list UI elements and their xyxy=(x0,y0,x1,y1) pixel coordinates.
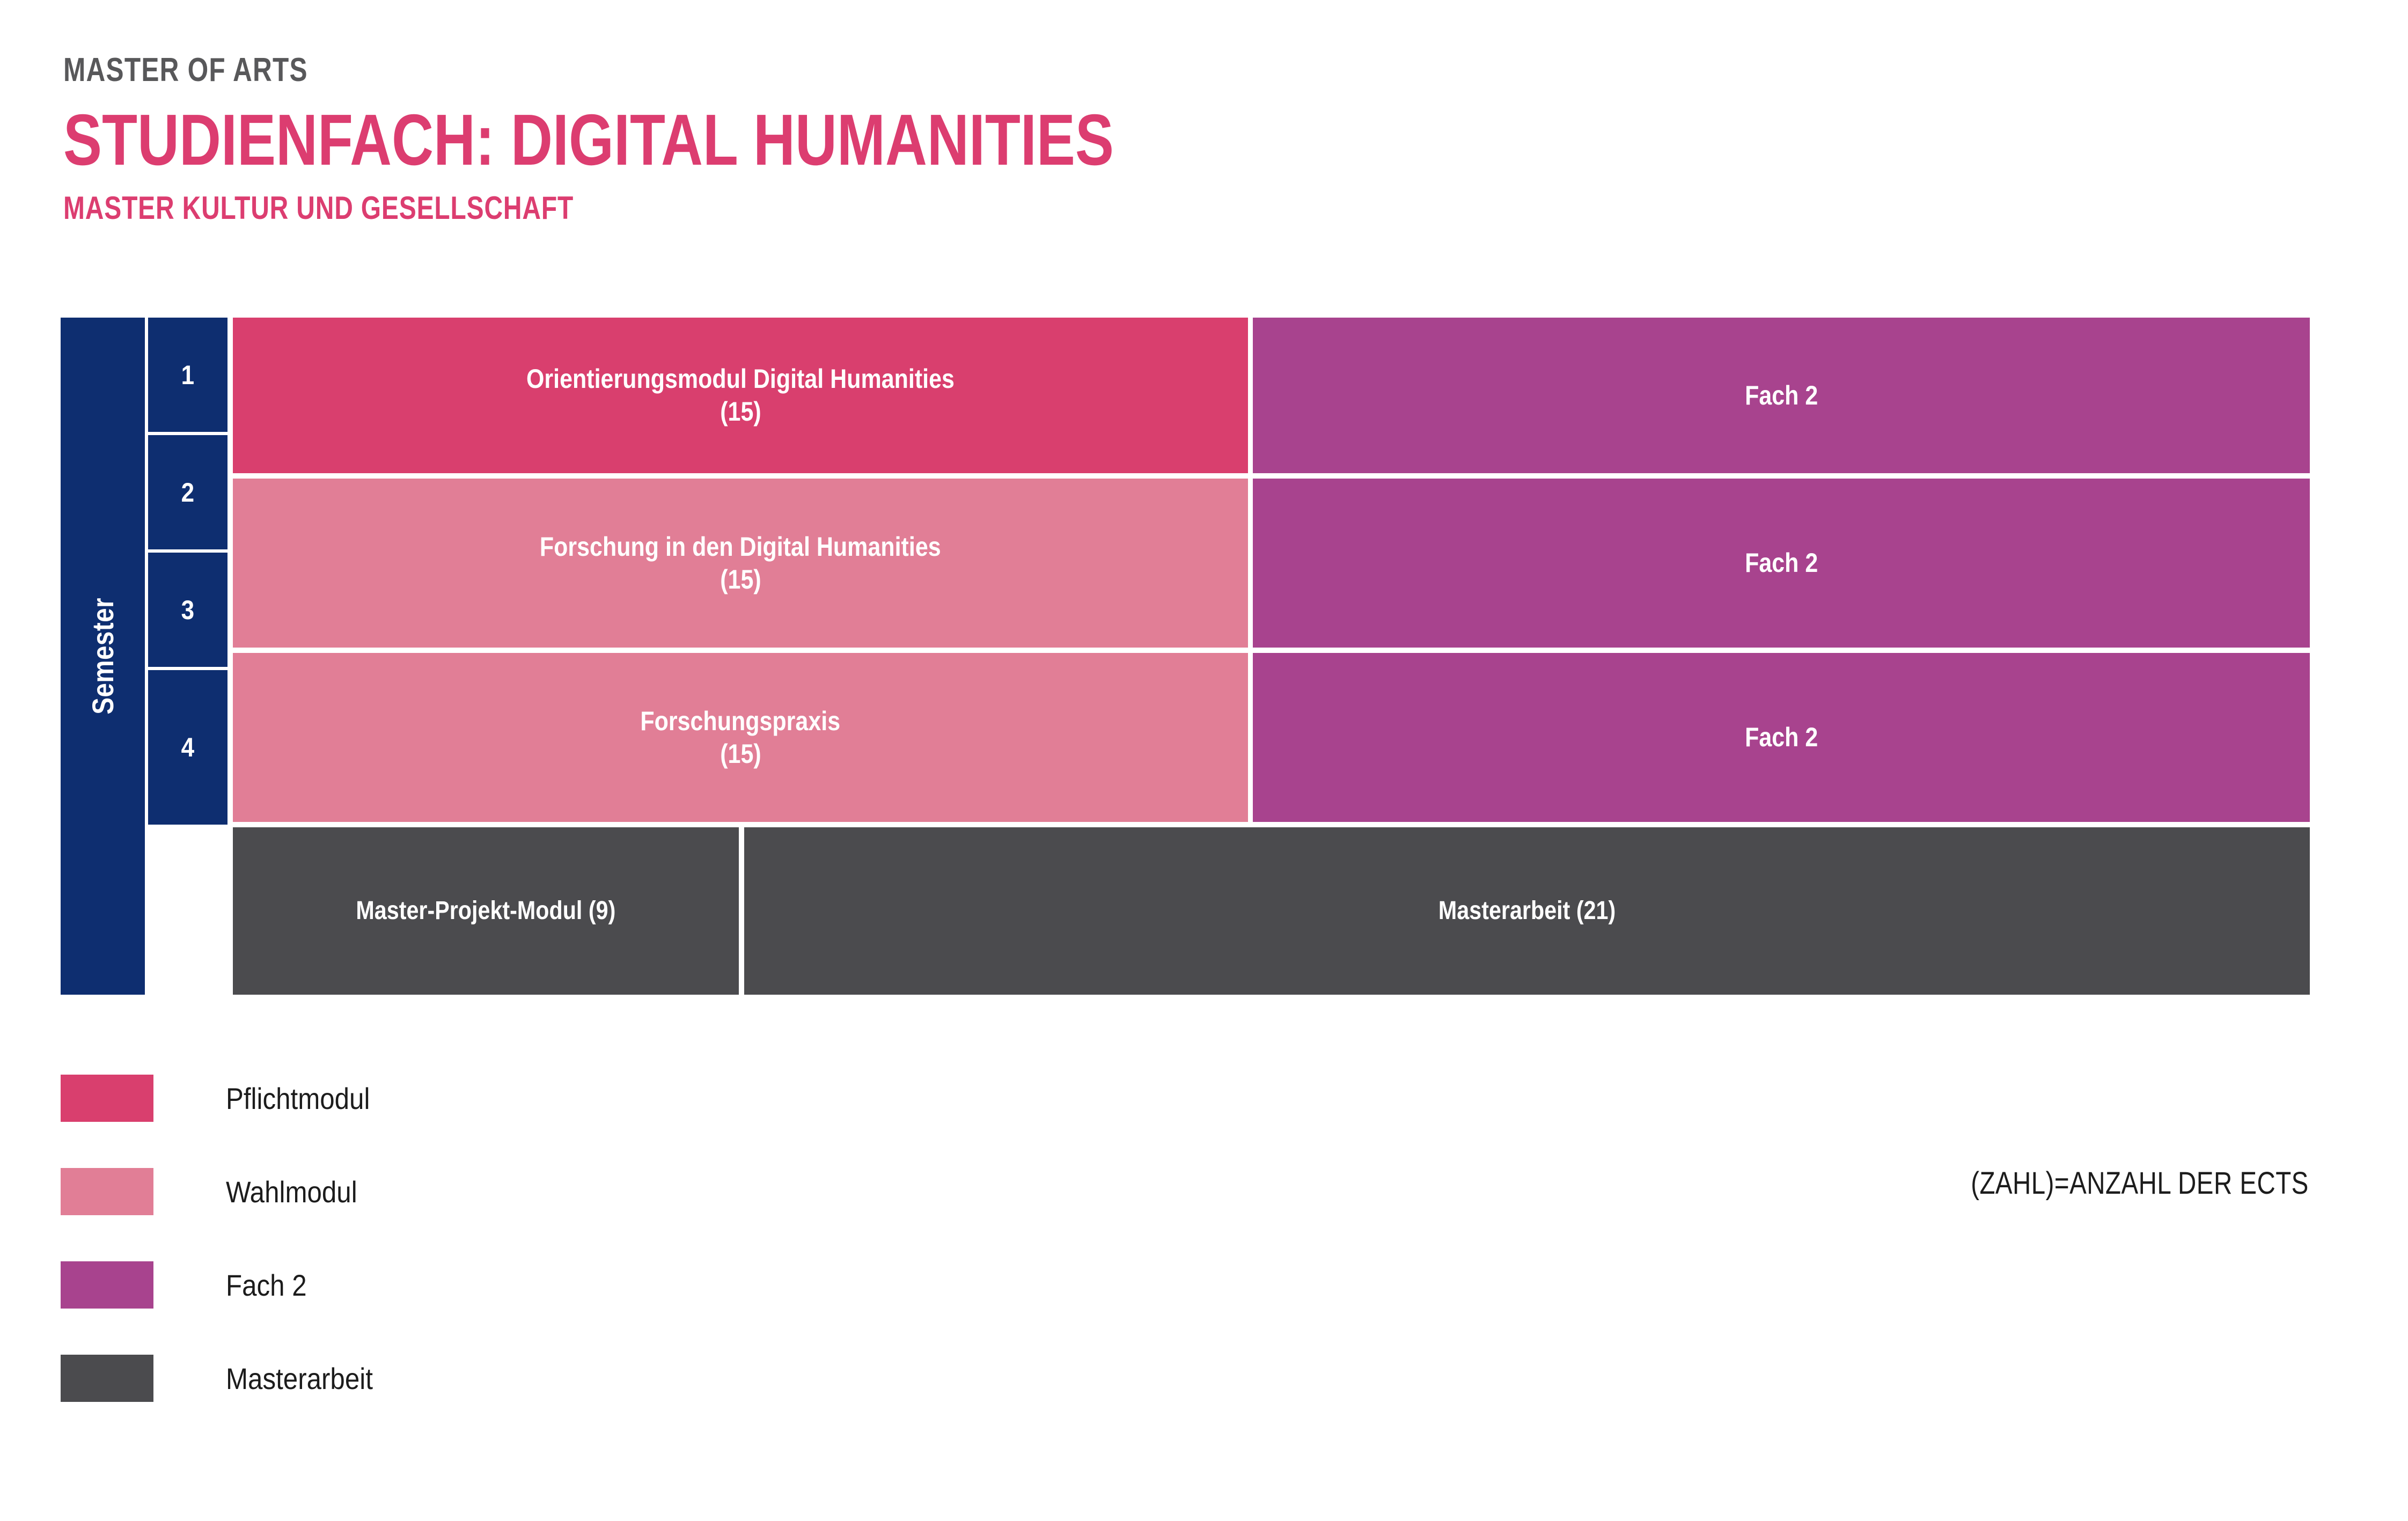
module-cell-fach2-sem3-label: Fach 2 xyxy=(1745,721,1818,754)
module-cell-fach2-sem2-label: Fach 2 xyxy=(1745,547,1818,579)
page-title: STUDIENFACH: DIGITAL HUMANITIES xyxy=(63,102,1523,178)
legend-swatch-fach2 xyxy=(61,1261,153,1309)
module-cell-forschung-digital-humanities[interactable]: Forschung in den Digital Humanities (15) xyxy=(233,479,1248,648)
legend-label-masterarbeit: Masterarbeit xyxy=(226,1361,373,1396)
legend-label-wahlmodul-wrap: Wahlmodul xyxy=(226,1174,375,1209)
module-cell-forschungspraxis[interactable]: Forschungspraxis (15) xyxy=(233,653,1248,822)
legend-label-fach2: Fach 2 xyxy=(226,1268,307,1303)
module-cell-forschung-digital-humanities-ects: (15) xyxy=(720,563,761,596)
legend-label-fach2-wrap: Fach 2 xyxy=(226,1268,318,1303)
module-cell-fach2-sem2[interactable]: Fach 2 xyxy=(1253,479,2310,648)
module-cell-orientierungsmodul-ects: (15) xyxy=(720,395,761,428)
legend-label-pflichtmodul-wrap: Pflichtmodul xyxy=(226,1081,390,1116)
legend-swatch-masterarbeit xyxy=(61,1355,153,1402)
legend-swatch-pflichtmodul xyxy=(61,1075,153,1122)
semester-number-1-text: 1 xyxy=(181,359,194,391)
ects-note-text: (ZAHL)=ANZAHL DER ECTS xyxy=(1971,1165,2309,1201)
module-cell-fach2-sem3[interactable]: Fach 2 xyxy=(1253,653,2310,822)
legend-item-pflichtmodul: Pflichtmodul xyxy=(61,1052,393,1145)
legend-label-wahlmodul: Wahlmodul xyxy=(226,1174,357,1209)
semester-number-2-text: 2 xyxy=(181,477,194,508)
module-cell-master-projekt-modul-label: Master-Projekt-Modul (9) xyxy=(356,895,616,927)
semester-number-1: 1 xyxy=(148,318,227,432)
module-cell-masterarbeit-label: Masterarbeit (21) xyxy=(1438,895,1616,927)
legend-item-wahlmodul: Wahlmodul xyxy=(61,1145,393,1238)
module-cell-forschungspraxis-ects: (15) xyxy=(720,738,761,770)
legend-swatch-wahlmodul xyxy=(61,1168,153,1215)
module-cell-fach2-sem1-label: Fach 2 xyxy=(1745,379,1818,412)
ects-note: (ZAHL)=ANZAHL DER ECTS xyxy=(1897,1165,2309,1201)
module-cell-fach2-sem1[interactable]: Fach 2 xyxy=(1253,318,2310,473)
study-plan-infographic: MASTER OF ARTS STUDIENFACH: DIGITAL HUMA… xyxy=(0,0,2408,1521)
module-cell-orientierungsmodul[interactable]: Orientierungsmodul Digital Humanities (1… xyxy=(233,318,1248,473)
semester-number-3-text: 3 xyxy=(181,594,194,626)
page-subtitle: MASTER KULTUR UND GESELLSCHAFT xyxy=(63,192,1523,224)
module-cell-forschungspraxis-label: Forschungspraxis xyxy=(641,705,841,738)
legend-label-pflichtmodul: Pflichtmodul xyxy=(226,1081,370,1116)
semester-number-4: 4 xyxy=(148,670,227,825)
header: MASTER OF ARTS STUDIENFACH: DIGITAL HUMA… xyxy=(63,54,1888,224)
semester-number-3: 3 xyxy=(148,553,227,667)
degree-kicker: MASTER OF ARTS xyxy=(63,54,1523,87)
module-cell-orientierungsmodul-label: Orientierungsmodul Digital Humanities xyxy=(526,363,955,395)
curriculum-matrix: Semester 1 2 3 4 Orientierungsmodul Digi… xyxy=(61,318,2310,995)
legend: Pflichtmodul Wahlmodul Fach 2 Masterarbe… xyxy=(61,1052,393,1425)
semester-number-column: 1 2 3 4 xyxy=(148,318,227,995)
legend-label-masterarbeit-wrap: Masterarbeit xyxy=(226,1361,393,1396)
semester-number-2: 2 xyxy=(148,435,227,549)
legend-item-fach2: Fach 2 xyxy=(61,1238,393,1332)
semester-axis: Semester xyxy=(61,318,145,995)
semester-axis-label-text: Semester xyxy=(85,598,120,715)
module-cell-master-projekt-modul[interactable]: Master-Projekt-Modul (9) xyxy=(233,827,739,995)
legend-item-masterarbeit: Masterarbeit xyxy=(61,1332,393,1425)
semester-axis-label: Semester xyxy=(61,318,145,995)
module-cell-masterarbeit[interactable]: Masterarbeit (21) xyxy=(744,827,2310,995)
semester-number-4-text: 4 xyxy=(181,732,194,763)
module-cell-forschung-digital-humanities-label: Forschung in den Digital Humanities xyxy=(540,531,941,563)
